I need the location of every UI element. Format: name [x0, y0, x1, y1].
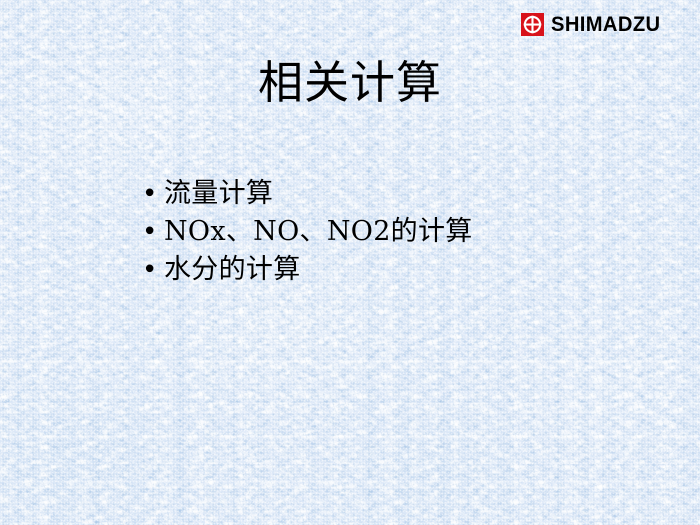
bullet-marker-icon: •: [142, 175, 164, 213]
bullet-text: 流量计算: [164, 175, 273, 213]
presentation-slide: SHIMADZU 相关计算 • 流量计算 • NOx、NO、NO2的计算 • 水…: [0, 0, 700, 525]
bullet-marker-icon: •: [142, 213, 164, 251]
list-item: • NOx、NO、NO2的计算: [142, 213, 662, 251]
bullet-marker-icon: •: [142, 251, 164, 289]
bullet-text: 水分的计算: [164, 251, 301, 289]
shimadzu-wordmark: SHIMADZU: [551, 13, 660, 36]
bullet-text: NOx、NO、NO2的计算: [164, 213, 473, 251]
slide-title-text: 相关计算: [258, 56, 442, 109]
list-item: • 流量计算: [142, 175, 662, 213]
bullet-list: • 流量计算 • NOx、NO、NO2的计算 • 水分的计算: [142, 175, 662, 289]
list-item: • 水分的计算: [142, 251, 662, 289]
shimadzu-circle-cross-icon: [521, 13, 544, 36]
slide-title: 相关计算: [0, 57, 700, 109]
shimadzu-logo: SHIMADZU: [521, 13, 665, 36]
